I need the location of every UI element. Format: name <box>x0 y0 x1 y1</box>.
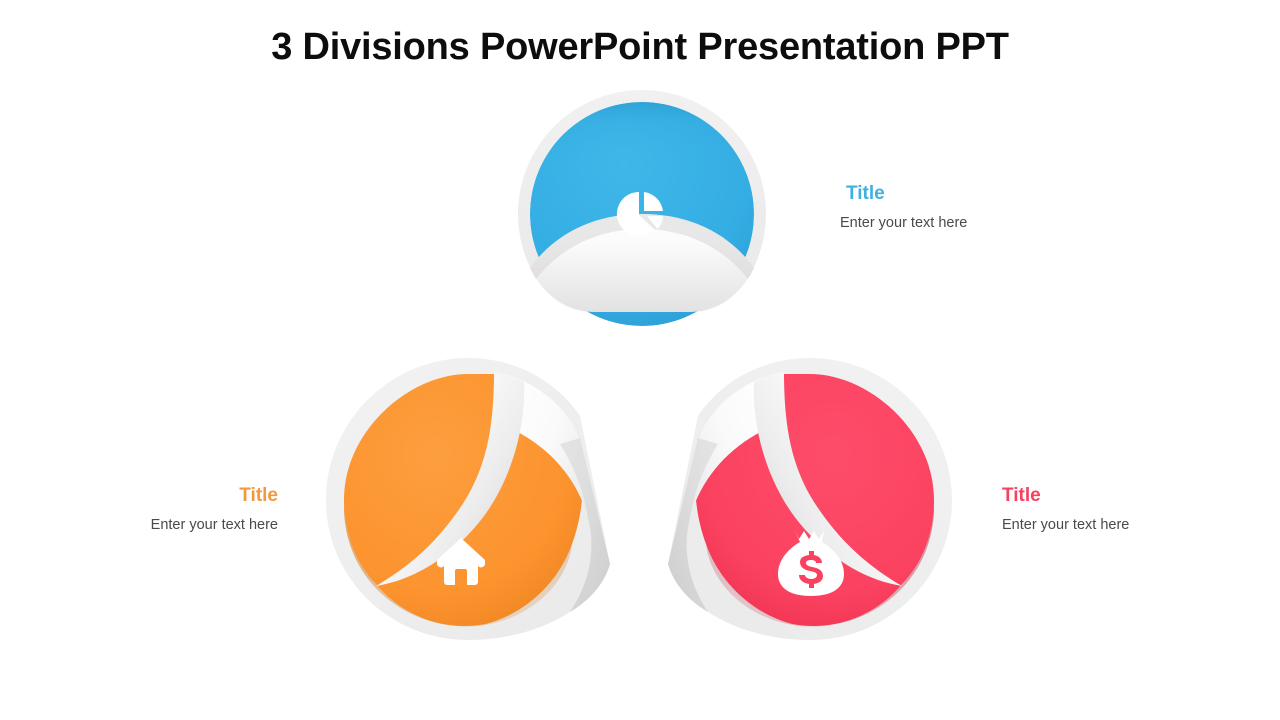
page-title: 3 Divisions PowerPoint Presentation PPT <box>0 26 1280 69</box>
slide-canvas: 3 Divisions PowerPoint Presentation PPT <box>0 0 1280 720</box>
callout-title: Title <box>20 484 278 508</box>
callout-left-orange: Title Enter your text here <box>20 484 278 534</box>
callout-right-pink: Title Enter your text here <box>1002 484 1129 534</box>
callout-title: Title <box>840 182 967 206</box>
segment-top-blue[interactable] <box>484 82 800 318</box>
callout-title: Title <box>1002 484 1129 508</box>
segment-right-pink[interactable] <box>660 352 960 648</box>
callout-body: Enter your text here <box>20 516 278 534</box>
callout-top-blue: Title Enter your text here <box>840 182 967 232</box>
segment-left-orange[interactable] <box>318 352 618 648</box>
callout-body: Enter your text here <box>840 214 967 232</box>
callout-body: Enter your text here <box>1002 516 1129 534</box>
